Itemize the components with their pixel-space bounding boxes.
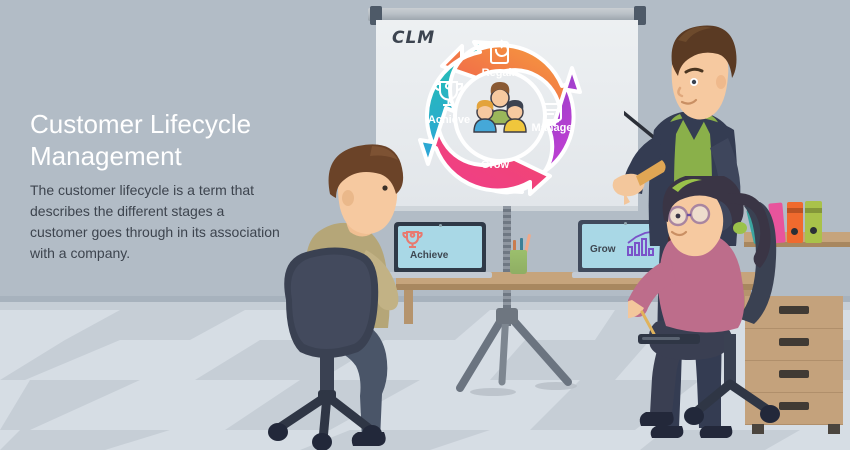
segment-label-achieve: Achieve: [418, 114, 480, 126]
tripod-head: [496, 308, 518, 324]
cabinet-foot-right: [828, 424, 840, 434]
tripod-legs: [440, 300, 600, 400]
pencil-holder: [510, 250, 527, 274]
segment-label-regain: Regain: [470, 67, 530, 79]
segment-label-manage: Manage: [522, 122, 582, 134]
segment-label-grow: Grow: [465, 159, 525, 171]
page-title: Customer Lifecycle Management: [30, 108, 310, 172]
laptop-right-label: Grow: [590, 244, 616, 255]
illustration-canvas: CLM: [0, 0, 850, 450]
person-seated-right: [628, 176, 808, 450]
pointer-hand: [596, 148, 666, 208]
clm-cycle-diagram: Regain Manage Grow Achieve: [404, 24, 596, 210]
page-description: The customer lifecycle is a term that de…: [30, 180, 285, 264]
person-seated-left: [262, 140, 432, 450]
